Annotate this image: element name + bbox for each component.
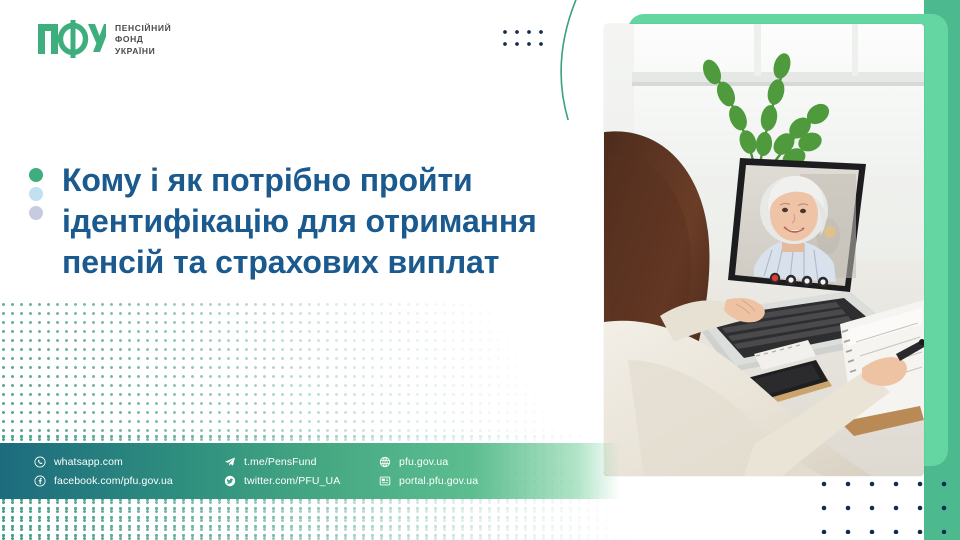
hero-photo-illustration (604, 24, 924, 476)
footer-link-portal[interactable]: portal.pfu.gov.ua (379, 475, 529, 487)
headline-line-2: ідентифікацію для отримання (62, 201, 582, 242)
footer-link-label: portal.pfu.gov.ua (399, 475, 478, 487)
headline-bullet-dots (29, 168, 43, 220)
facebook-icon (34, 475, 46, 487)
footer-column-2: t.me/PensFund twitter.com/PFU_UA (224, 456, 379, 487)
logo-tagline-line-3: УКРАЇНИ (115, 46, 171, 56)
footer-link-label: pfu.gov.ua (399, 456, 448, 468)
twitter-icon (224, 475, 236, 487)
headline-line-3: пенсій та страхових виплат (62, 242, 582, 283)
footer-column-3: pfu.gov.ua portal.pfu.gov.ua (379, 456, 529, 487)
logo-tagline-line-2: ФОНД (115, 34, 171, 44)
pfu-logo-mark-icon (36, 18, 106, 60)
bullet-dot-2 (29, 187, 43, 201)
globe-icon (379, 456, 391, 468)
footer-link-telegram[interactable]: t.me/PensFund (224, 456, 379, 468)
slide-canvas: ПЕНСІЙНИЙ ФОНД УКРАЇНИ Кому і як потрібн… (0, 0, 960, 540)
telegram-icon (224, 456, 236, 468)
page-title: Кому і як потрібно пройти ідентифікацію … (62, 160, 582, 283)
footer-column-1: whatsapp.com facebook.com/pfu.gov.ua (34, 456, 224, 487)
bullet-dot-3 (29, 206, 43, 220)
footer-link-website[interactable]: pfu.gov.ua (379, 456, 529, 468)
portal-icon (379, 475, 391, 487)
bullet-dot-1 (29, 168, 43, 182)
footer-contact-columns: whatsapp.com facebook.com/pfu.gov.ua t.m… (0, 443, 620, 499)
headline-line-1: Кому і як потрібно пройти (62, 160, 582, 201)
footer-link-label: facebook.com/pfu.gov.ua (54, 475, 173, 487)
hero-photo (604, 24, 924, 476)
pfu-logo: ПЕНСІЙНИЙ ФОНД УКРАЇНИ (36, 18, 171, 60)
footer-link-label: t.me/PensFund (244, 456, 317, 468)
dot-grid-bottom-right-decoration (812, 472, 960, 534)
footer-link-label: twitter.com/PFU_UA (244, 475, 340, 487)
whatsapp-icon (34, 456, 46, 468)
footer-link-twitter[interactable]: twitter.com/PFU_UA (224, 475, 379, 487)
logo-tagline-line-1: ПЕНСІЙНИЙ (115, 23, 171, 33)
footer-link-whatsapp[interactable]: whatsapp.com (34, 456, 224, 468)
pfu-logo-tagline: ПЕНСІЙНИЙ ФОНД УКРАЇНИ (115, 22, 171, 56)
footer-link-label: whatsapp.com (54, 456, 123, 468)
footer-link-facebook[interactable]: facebook.com/pfu.gov.ua (34, 475, 224, 487)
